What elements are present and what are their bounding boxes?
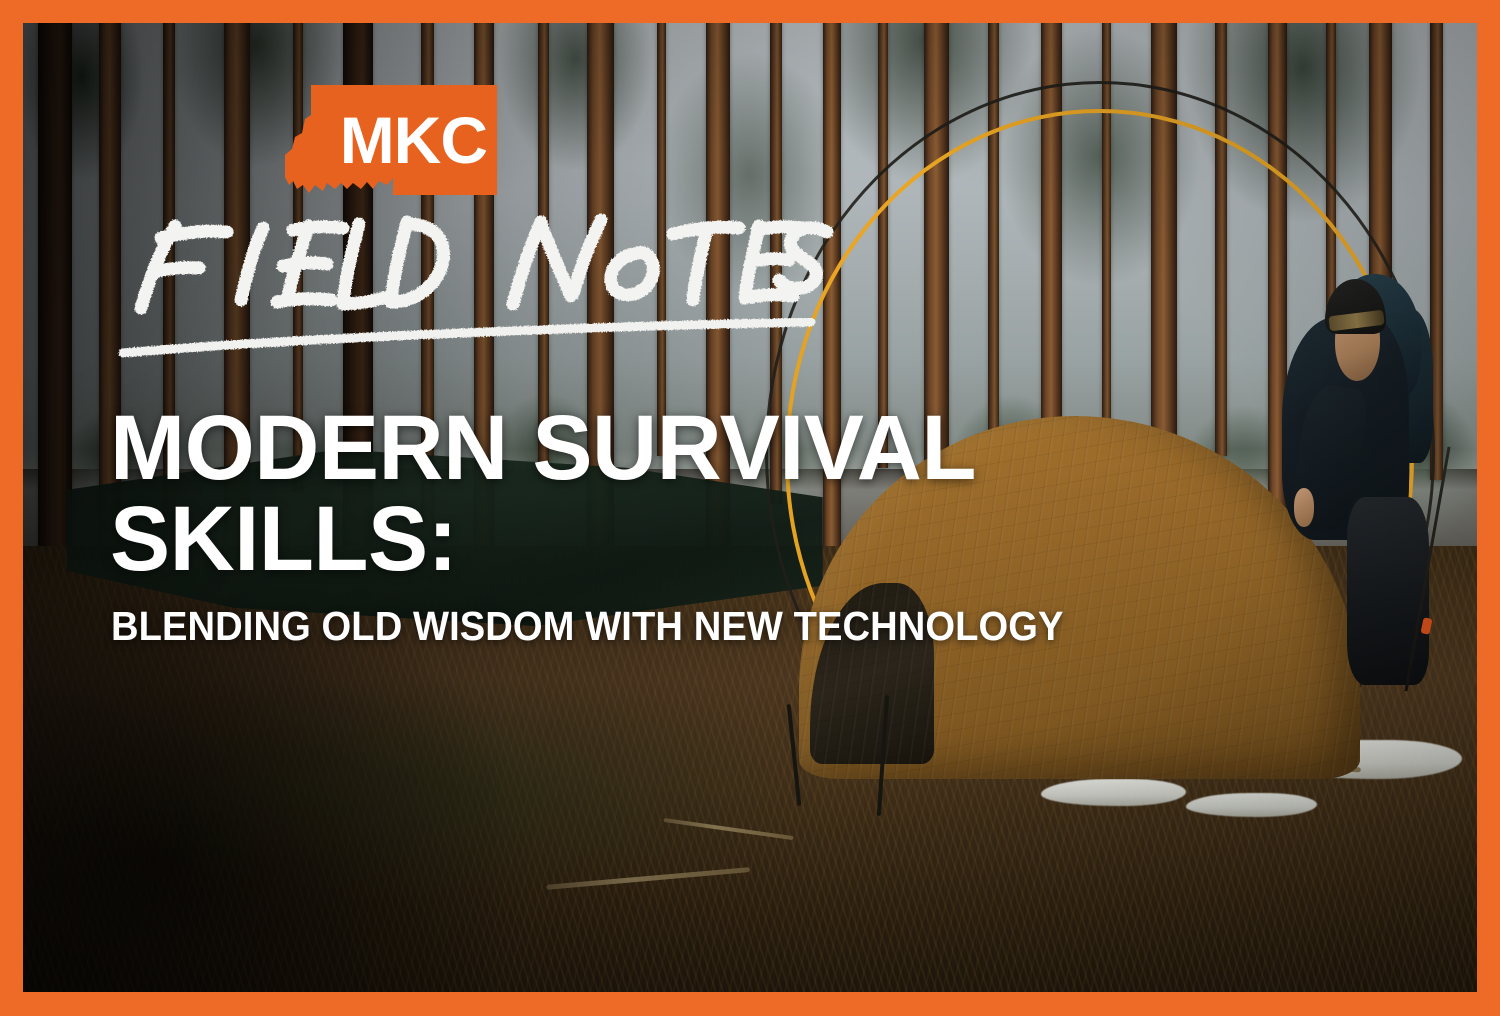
mkc-montana-badge: MKC <box>275 85 497 195</box>
hero-photo: MKC <box>23 23 1477 992</box>
field-notes-script <box>111 188 831 373</box>
camper-legs <box>1347 497 1429 685</box>
camper <box>1237 249 1442 677</box>
page-subtitle: BLENDING OLD WISDOM WITH NEW TECHNOLOGY <box>111 603 1064 650</box>
mkc-wordmark: MKC <box>275 85 497 195</box>
headline-line-2: SKILLS: <box>110 494 1090 585</box>
headline-line-1: MODERN SURVIVAL <box>110 403 1090 494</box>
pole-tip-orange <box>1421 617 1433 635</box>
field-notes-banner: MKC <box>0 0 1500 1016</box>
page-title: MODERN SURVIVAL SKILLS: <box>110 403 1110 585</box>
field-notes-lettering <box>111 188 831 373</box>
camper-hand <box>1294 488 1315 527</box>
